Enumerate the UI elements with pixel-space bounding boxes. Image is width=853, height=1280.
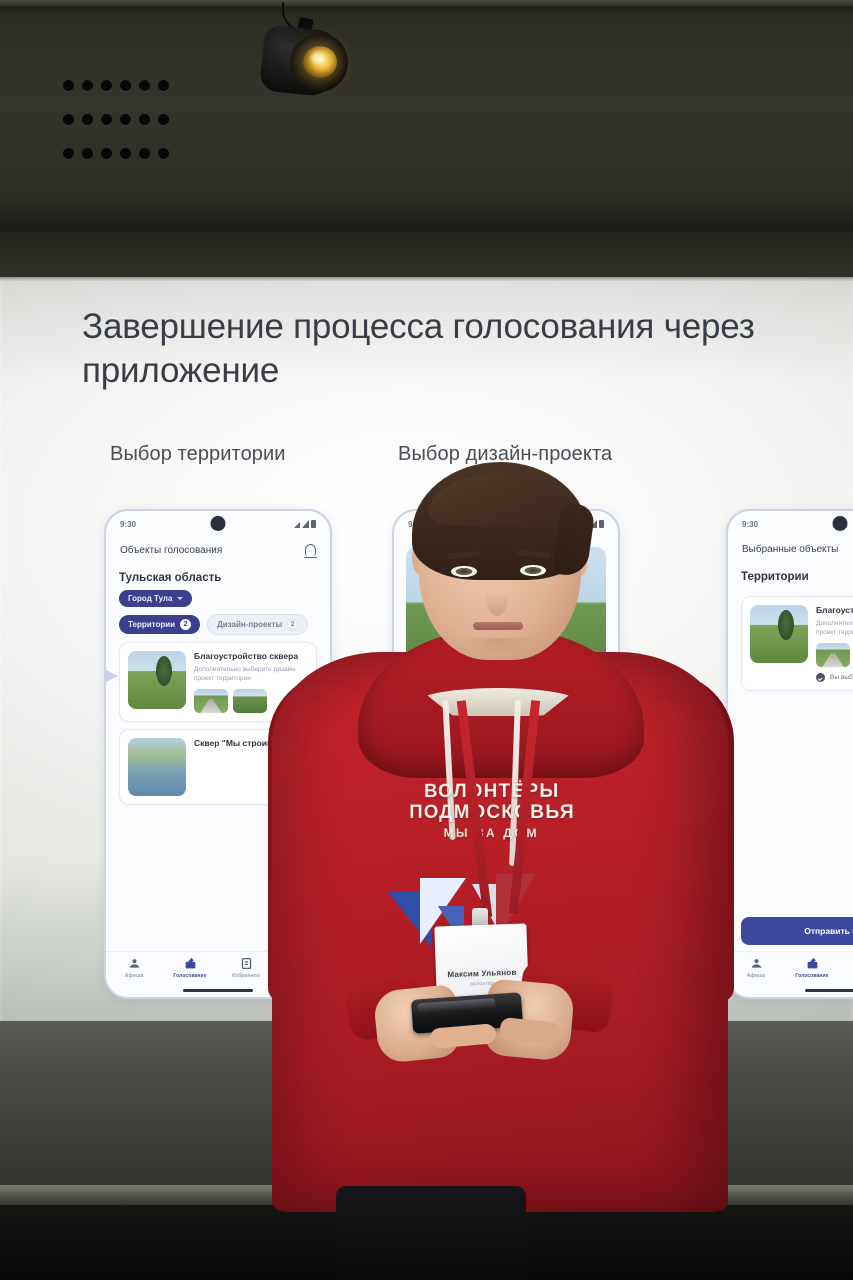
presenter-left-eye xyxy=(451,566,477,577)
badge-name: Максим Ульянов xyxy=(443,968,521,980)
presenter-legs xyxy=(336,1186,526,1280)
presenter-mouth xyxy=(473,622,523,630)
hoodie-print-text: ВОЛОНТЁРЫ ПОДМОСКОВЬЯ МЫ ЗА ДОМ xyxy=(388,781,598,840)
badge-logo-right-icon xyxy=(490,932,520,933)
presenter-nose xyxy=(486,578,508,616)
hoodie-line-3: МЫ ЗА ДОМ xyxy=(388,827,598,841)
photo-scene: Завершение процесса голосования через пр… xyxy=(0,0,853,1280)
presenter-chin xyxy=(462,638,536,656)
hoodie-line-2: ПОДМОСКОВЬЯ xyxy=(388,802,598,823)
presenter: ВОЛОНТЁРЫ ПОДМОСКОВЬЯ МЫ ЗА ДОМ Макси xyxy=(0,0,853,1280)
hoodie-line-1: ВОЛОНТЁРЫ xyxy=(388,781,598,802)
badge-logo-left-icon xyxy=(442,933,472,934)
badge-logo-row xyxy=(442,932,520,935)
presenter-right-eye xyxy=(520,565,546,576)
